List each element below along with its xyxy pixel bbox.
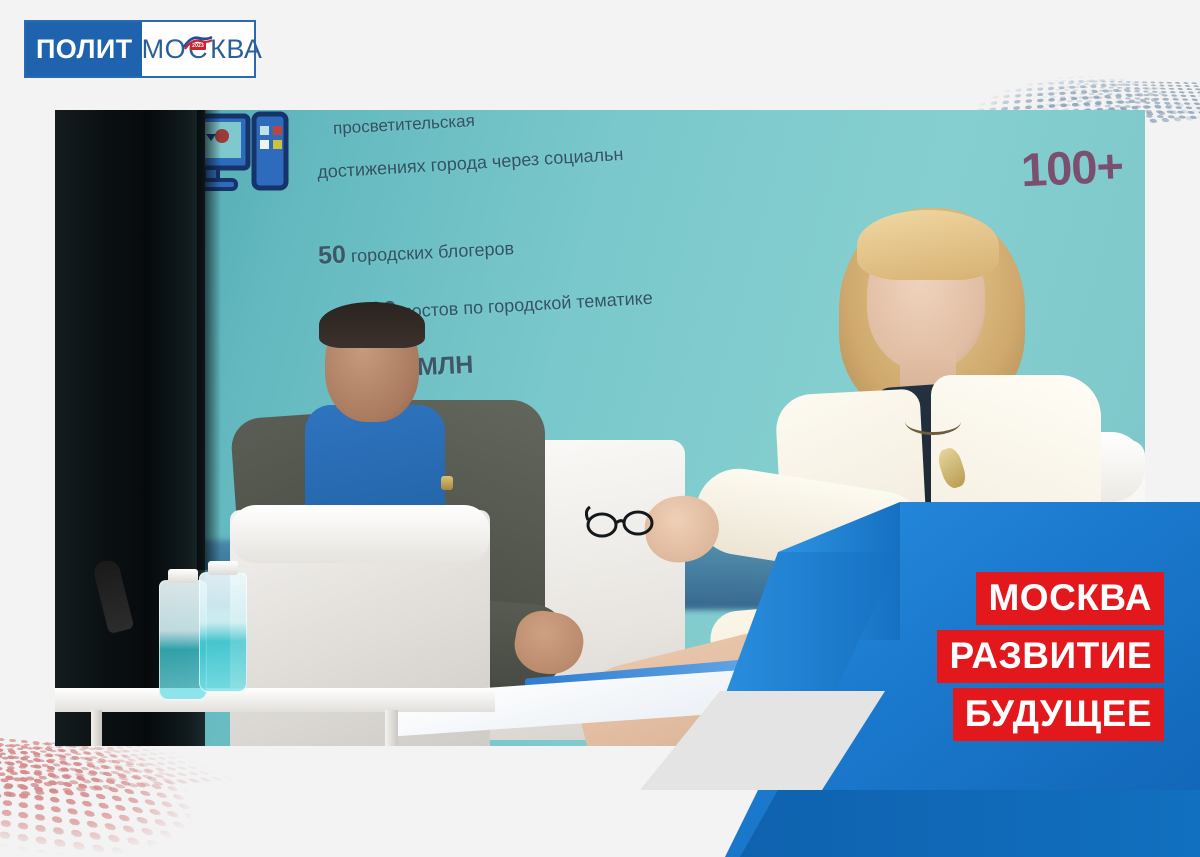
water-bottle-right	[199, 572, 247, 692]
slogan-line-moskva: МОСКВА	[976, 572, 1164, 625]
slogan-line-razvitie: РАЗВИТИЕ	[937, 630, 1164, 683]
logo-polit-text: ПОЛИТ	[26, 22, 142, 76]
bottle-cap-left	[168, 569, 198, 583]
stage-curtain-edge	[197, 110, 221, 570]
female-necklace	[905, 408, 961, 435]
slide-stat-50: 50	[317, 240, 346, 269]
bottle-cap-right	[208, 561, 238, 575]
slide-stat-50-label: городских блогеров	[350, 238, 514, 266]
logo-moskva-text: МОС2023КВА	[142, 22, 263, 76]
banner-blue-bottom	[740, 790, 1200, 857]
logo-moskva-suffix: КВА	[210, 34, 262, 65]
logo-moskva-prefix: МО	[142, 34, 187, 65]
poster-canvas: просветительская достижениях города чере…	[0, 0, 1200, 857]
logo-year-badge: 2023	[190, 43, 206, 50]
slogan-banner: МОСКВА РАЗВИТИЕ БУДУЩЕЕ	[600, 480, 1200, 857]
male-lapel-pin	[441, 476, 453, 490]
side-table-leg-left	[91, 710, 102, 746]
side-table-top	[55, 688, 495, 712]
slogan-line-budushchee: БУДУЩЕЕ	[953, 688, 1164, 741]
polit-moskva-logo[interactable]: ПОЛИТ МОС2023КВА	[24, 20, 256, 78]
male-hair	[319, 302, 425, 348]
female-hair-front	[857, 210, 999, 280]
slogan-lines: МОСКВА РАЗВИТИЕ БУДУЩЕЕ	[937, 572, 1164, 741]
logo-c-emblem: С2023	[186, 34, 210, 65]
armchair-left-armrest	[230, 505, 490, 563]
side-table-leg-right	[385, 710, 398, 746]
